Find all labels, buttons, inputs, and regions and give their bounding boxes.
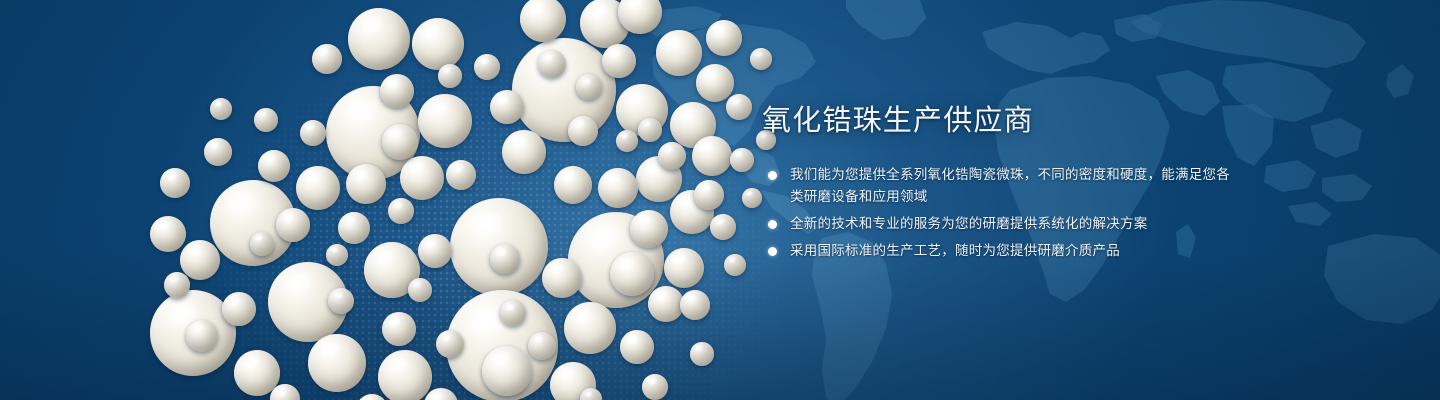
ceramic-bead xyxy=(620,330,654,364)
ceramic-bead xyxy=(502,130,546,174)
ceramic-bead xyxy=(690,342,714,366)
page-title: 氧化锆珠生产供应商 xyxy=(762,104,1232,138)
ceramic-bead xyxy=(638,118,662,142)
ceramic-bead xyxy=(356,394,388,400)
ceramic-bead xyxy=(210,98,232,120)
ceramic-bead xyxy=(446,160,476,190)
ceramic-bead xyxy=(382,124,418,160)
ceramic-bead xyxy=(312,44,342,74)
ceramic-bead xyxy=(378,350,432,400)
ceramic-bead xyxy=(180,240,220,280)
ceramic-bead xyxy=(424,388,458,400)
ceramic-bead xyxy=(694,180,724,210)
ceramic-bead xyxy=(474,54,500,80)
hero-banner: 氧化锆珠生产供应商 我们能为您提供全系列氧化锆陶瓷微珠，不同的密度和硬度，能满足… xyxy=(0,0,1440,400)
ceramic-bead xyxy=(630,210,668,248)
ceramic-bead xyxy=(276,208,310,242)
ceramic-bead xyxy=(296,166,340,210)
ceramic-bead xyxy=(300,120,326,146)
feature-list-item: 全新的技术和专业的服务为您的研磨提供系统化的解决方案 xyxy=(762,213,1232,235)
ceramic-bead xyxy=(346,164,386,204)
ceramic-bead xyxy=(222,292,256,326)
feature-list: 我们能为您提供全系列氧化锆陶瓷微珠，不同的密度和硬度，能满足您各类研磨设备和应用… xyxy=(762,164,1232,262)
ceramic-bead xyxy=(204,138,232,166)
ceramic-bead xyxy=(438,64,462,88)
ceramic-bead xyxy=(150,216,186,252)
ceramic-bead xyxy=(528,332,556,360)
ceramic-bead xyxy=(580,388,602,400)
ceramic-bead xyxy=(664,248,704,288)
ceramic-bead xyxy=(380,74,414,108)
ceramic-bead xyxy=(642,374,668,400)
ceramic-bead xyxy=(568,116,598,146)
ceramic-bead xyxy=(338,212,370,244)
ceramic-bead xyxy=(750,48,772,70)
feature-list-item: 我们能为您提供全系列氧化锆陶瓷微珠，不同的密度和硬度，能满足您各类研磨设备和应用… xyxy=(762,164,1232,208)
ceramic-bead xyxy=(418,234,452,268)
ceramic-bead xyxy=(482,346,532,396)
ceramic-bead xyxy=(328,288,354,314)
ceramic-bead xyxy=(680,290,710,320)
ceramic-bead xyxy=(658,142,686,170)
ceramic-bead xyxy=(326,244,348,266)
ceramic-bead xyxy=(724,254,746,276)
ceramic-bead xyxy=(164,272,190,298)
ceramic-bead xyxy=(418,94,472,148)
ceramic-bead xyxy=(602,44,636,78)
zirconia-beads-image xyxy=(150,0,730,400)
ceramic-bead xyxy=(382,312,416,346)
ceramic-bead xyxy=(160,168,190,198)
ceramic-bead xyxy=(490,90,524,124)
ceramic-bead xyxy=(598,168,638,208)
ceramic-bead xyxy=(400,156,444,200)
ceramic-bead xyxy=(742,188,762,208)
ceramic-bead xyxy=(490,244,520,274)
ceramic-bead xyxy=(500,300,526,326)
feature-list-item-text: 我们能为您提供全系列氧化锆陶瓷微珠，不同的密度和硬度，能满足您各类研磨设备和应用… xyxy=(790,167,1230,204)
ceramic-bead xyxy=(726,94,752,120)
ceramic-bead xyxy=(706,20,742,56)
ceramic-bead xyxy=(576,74,602,100)
ceramic-bead xyxy=(616,130,638,152)
ceramic-bead xyxy=(730,148,754,172)
ceramic-bead xyxy=(436,330,464,358)
ceramic-bead xyxy=(520,0,566,42)
bullet-dot-icon xyxy=(768,247,777,256)
bullet-dot-icon xyxy=(768,220,777,229)
ceramic-bead xyxy=(348,8,410,70)
ceramic-bead xyxy=(542,258,582,298)
ceramic-bead xyxy=(308,334,366,392)
ceramic-bead xyxy=(564,302,616,354)
ceramic-bead xyxy=(254,108,278,132)
ceramic-bead xyxy=(648,286,684,322)
bullet-dot-icon xyxy=(768,171,777,180)
ceramic-bead xyxy=(710,214,736,240)
ceramic-bead xyxy=(692,136,732,176)
feature-list-item: 采用国际标准的生产工艺，随时为您提供研磨介质产品 xyxy=(762,240,1232,262)
ceramic-bead xyxy=(408,278,432,302)
feature-list-item-text: 采用国际标准的生产工艺，随时为您提供研磨介质产品 xyxy=(790,243,1120,258)
ceramic-bead xyxy=(610,252,654,296)
ceramic-bead xyxy=(250,232,274,256)
ceramic-bead xyxy=(538,50,566,78)
ceramic-bead xyxy=(412,18,464,70)
banner-content: 氧化锆珠生产供应商 我们能为您提供全系列氧化锆陶瓷微珠，不同的密度和硬度，能满足… xyxy=(762,104,1232,267)
ceramic-bead xyxy=(388,198,414,224)
ceramic-bead xyxy=(258,150,290,182)
ceramic-bead xyxy=(656,30,702,76)
ceramic-bead xyxy=(696,64,734,102)
ceramic-bead xyxy=(186,320,218,352)
feature-list-item-text: 全新的技术和专业的服务为您的研磨提供系统化的解决方案 xyxy=(790,216,1148,231)
ceramic-bead xyxy=(554,166,592,204)
